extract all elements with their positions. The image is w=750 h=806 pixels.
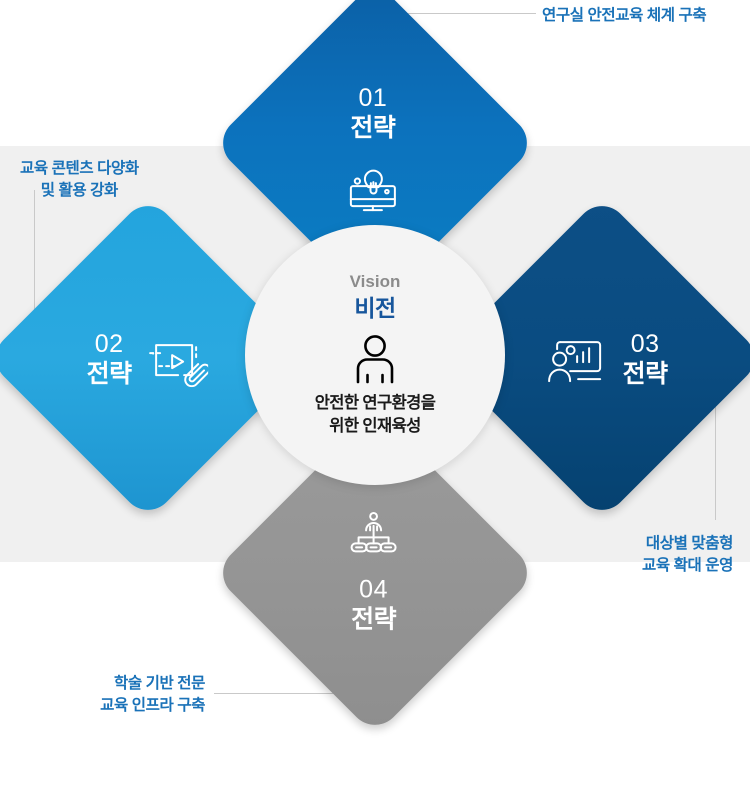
strategy-diagram: 연구실 안전교육 체계 구축 교육 콘텐츠 다양화 및 활용 강화 대상별 맞춤…	[0, 0, 750, 720]
label-strategy-03-line1: 대상별 맞춤형	[598, 533, 733, 555]
strategy-card-03-number: 03	[623, 330, 668, 359]
strategy-card-02-number: 02	[87, 330, 132, 359]
vision-label-en: Vision	[350, 273, 401, 292]
label-strategy-02: 교육 콘텐츠 다양화 및 활용 강화	[20, 158, 139, 203]
strategy-card-04-content: 04 전략	[259, 457, 489, 691]
label-strategy-04-line2: 교육 인프라 구축	[55, 695, 205, 717]
strategy-card-02-content: 02 전략	[32, 245, 268, 475]
strategy-card-04-text: 04 전략	[351, 575, 396, 635]
label-strategy-01-line1: 연구실 안전교육 체계 구축	[542, 5, 706, 27]
label-strategy-02-line2: 및 활용 강화	[20, 180, 139, 202]
strategy-card-04-number: 04	[351, 575, 396, 604]
strategy-card-02-word: 전략	[87, 359, 132, 390]
label-strategy-01: 연구실 안전교육 체계 구축	[542, 5, 706, 27]
strategy-card-04-word: 전략	[351, 604, 396, 635]
strategy-card-02-text: 02 전략	[87, 330, 132, 390]
person-icon	[350, 334, 400, 386]
org-chart-icon	[346, 509, 402, 561]
vision-description: 안전한 연구환경을 위한 인재육성	[315, 392, 436, 437]
vision-description-line1: 안전한 연구환경을	[315, 392, 436, 414]
label-strategy-03: 대상별 맞춤형 교육 확대 운영	[598, 533, 733, 578]
presenter-chart-icon	[547, 333, 609, 387]
video-attachment-icon	[146, 333, 208, 387]
strategy-card-03-word: 전략	[623, 359, 668, 390]
label-strategy-04-line1: 학술 기반 전문	[55, 673, 205, 695]
vision-circle: Vision 비전 안전한 연구환경을 위한 인재육성	[245, 225, 505, 485]
connector-line-top	[388, 13, 536, 14]
vision-label-ko: 비전	[354, 295, 395, 323]
strategy-card-01-text: 01 전략	[350, 84, 395, 144]
monitor-lightbulb-icon	[345, 160, 401, 212]
strategy-card-01-word: 전략	[350, 113, 395, 144]
strategy-card-01-number: 01	[350, 84, 395, 113]
strategy-card-03-text: 03 전략	[623, 330, 668, 390]
label-strategy-02-line1: 교육 콘텐츠 다양화	[20, 158, 139, 180]
vision-description-line2: 위한 인재육성	[315, 415, 436, 437]
label-strategy-04: 학술 기반 전문 교육 인프라 구축	[55, 673, 205, 718]
strategy-card-03-content: 03 전략	[486, 245, 722, 475]
label-strategy-03-line2: 교육 확대 운영	[598, 555, 733, 577]
